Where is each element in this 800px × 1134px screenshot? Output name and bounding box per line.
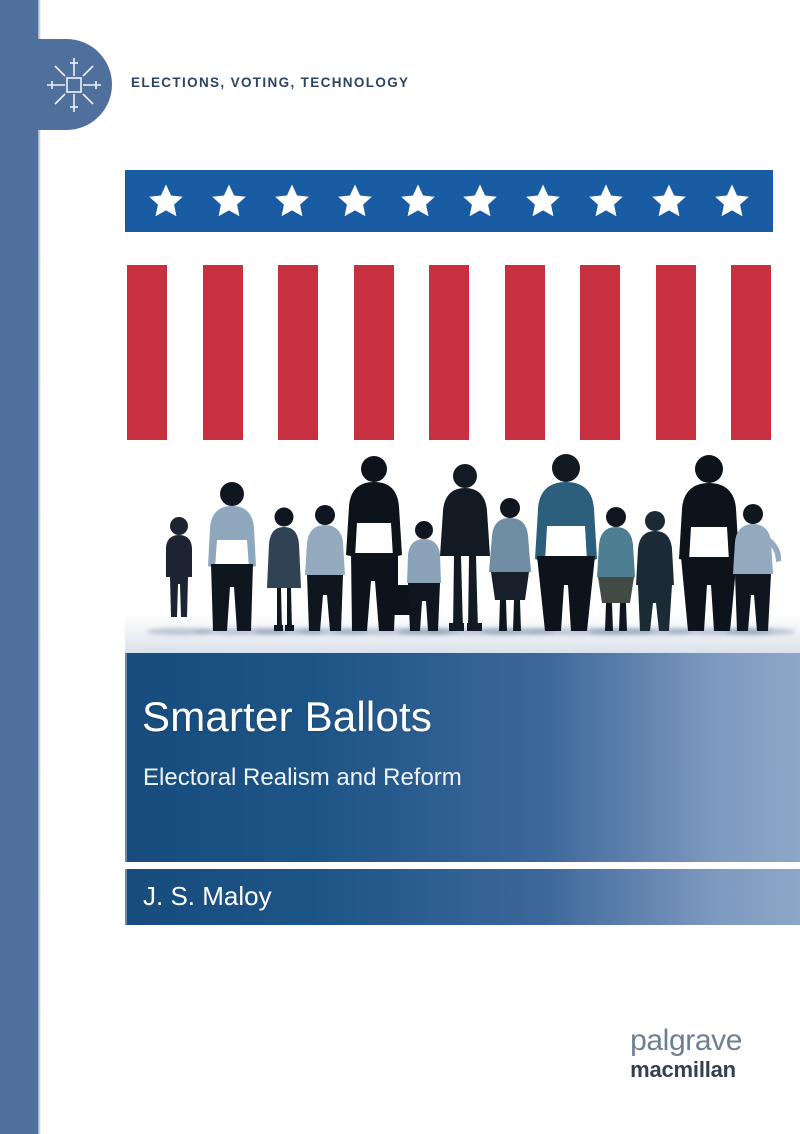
star-icon bbox=[336, 182, 374, 220]
palgrave-starburst-icon bbox=[44, 55, 104, 115]
star-banner bbox=[125, 170, 773, 232]
spine-strip bbox=[0, 0, 38, 1134]
star-icon bbox=[461, 182, 499, 220]
silhouette-figure bbox=[155, 513, 203, 631]
cover-artwork bbox=[125, 170, 800, 653]
star-icon bbox=[524, 182, 562, 220]
flag-stripe bbox=[203, 265, 243, 440]
book-subtitle: Electoral Realism and Reform bbox=[143, 764, 462, 792]
flag-stripes bbox=[127, 265, 771, 440]
star-icon bbox=[650, 182, 688, 220]
flag-stripe bbox=[656, 265, 696, 440]
flag-stripe bbox=[429, 265, 469, 440]
publisher-logotype: palgrave macmillan bbox=[630, 1026, 742, 1081]
author-panel: J. S. Maloy bbox=[125, 869, 800, 925]
silhouette-figure bbox=[201, 479, 263, 631]
publisher-name-macmillan: macmillan bbox=[630, 1059, 742, 1081]
crowd-silhouettes bbox=[125, 450, 800, 653]
panel-divider bbox=[125, 862, 800, 869]
silhouette-figure bbox=[729, 501, 783, 631]
flag-stripe bbox=[127, 265, 167, 440]
page-title: Smarter Ballots bbox=[142, 693, 432, 741]
series-title: ELECTIONS, VOTING, TECHNOLOGY bbox=[131, 75, 409, 90]
star-icon bbox=[587, 182, 625, 220]
flag-stripe bbox=[354, 265, 394, 440]
flag-stripe bbox=[278, 265, 318, 440]
star-icon bbox=[210, 182, 248, 220]
star-icon bbox=[147, 182, 185, 220]
flag-stripe bbox=[731, 265, 771, 440]
author-name: J. S. Maloy bbox=[143, 881, 272, 912]
flag-stripe bbox=[505, 265, 545, 440]
spine-edge-shadow bbox=[38, 0, 41, 1134]
star-icon bbox=[713, 182, 751, 220]
star-icon bbox=[399, 182, 437, 220]
flag-stripe bbox=[580, 265, 620, 440]
publisher-name-palgrave: palgrave bbox=[630, 1026, 742, 1056]
star-icon bbox=[273, 182, 311, 220]
title-panel: Smarter Ballots Electoral Realism and Re… bbox=[125, 653, 800, 862]
